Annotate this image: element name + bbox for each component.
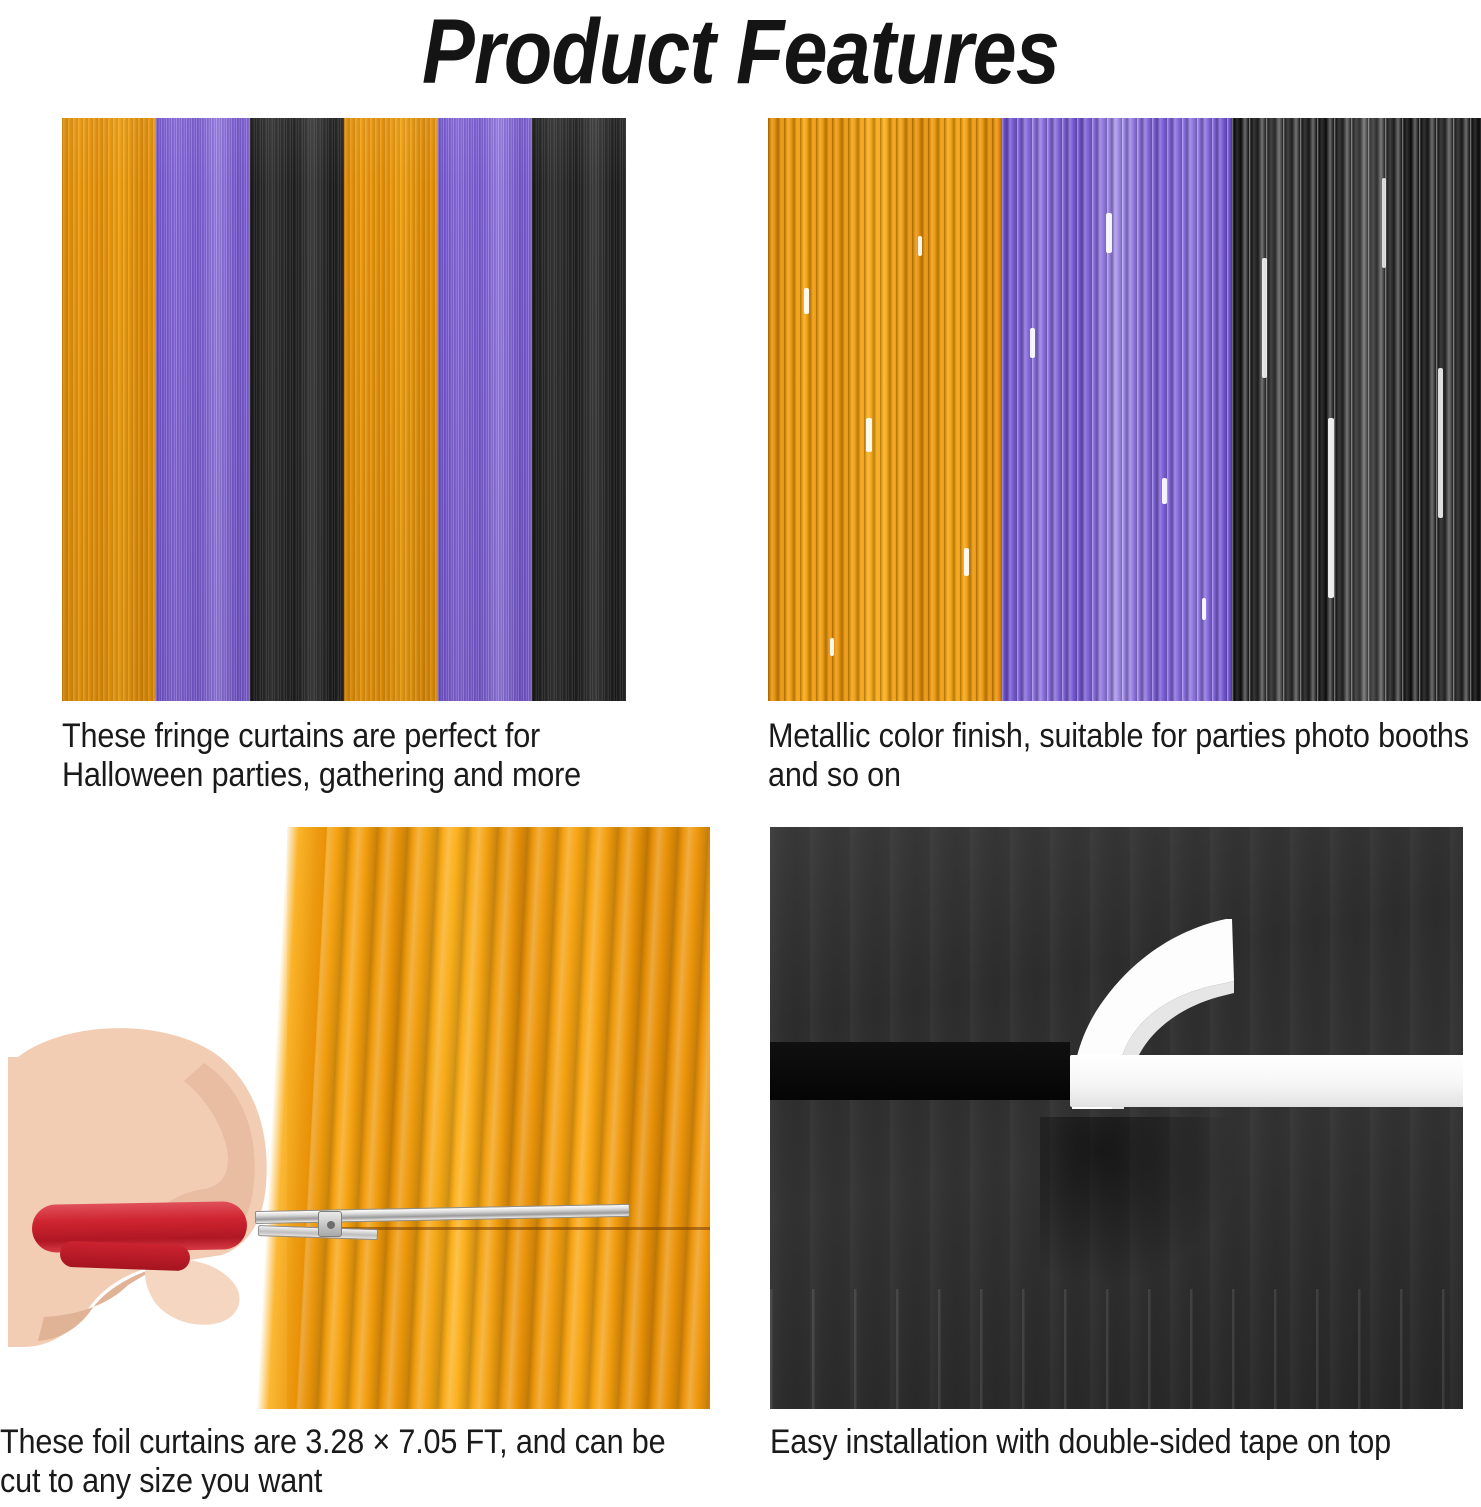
- highlight-spot: [804, 288, 809, 314]
- curtain-header-band: [770, 1042, 1070, 1100]
- feature-panel-fringe-curtains-set: These fringe curtains are perfect for Ha…: [62, 118, 626, 795]
- feature-caption-double-sided-tape: Easy installation with double-sided tape…: [770, 1423, 1481, 1462]
- double-sided-tape-strip: [1070, 1055, 1463, 1107]
- feature-row-bottom: These foil curtains are 3.28 × 7.05 FT, …: [0, 827, 1481, 1507]
- feature-caption-metallic-closeup: Metallic color finish, suitable for part…: [768, 717, 1479, 795]
- feature-caption-fringe-curtains-set: These fringe curtains are perfect for Ha…: [62, 717, 624, 795]
- highlight-spot: [1162, 478, 1167, 504]
- curtain-band-orange: [768, 118, 1002, 701]
- curtain-band-purple: [1002, 118, 1232, 701]
- feature-row-top: These fringe curtains are perfect for Ha…: [0, 118, 1481, 818]
- highlight-spot: [964, 548, 969, 576]
- highlight-spot: [1328, 418, 1334, 598]
- highlight-spot: [1030, 328, 1035, 358]
- highlight-spot: [1262, 258, 1267, 378]
- curtain-fringe-bottom: [770, 1289, 1463, 1409]
- product-photo-fringe-curtains-set: [62, 118, 626, 701]
- curtain-band-black: [1232, 118, 1481, 701]
- header: Product Features: [0, 0, 1481, 118]
- highlight-spot: [918, 236, 922, 256]
- feature-panel-cut-to-size: These foil curtains are 3.28 × 7.05 FT, …: [0, 827, 710, 1501]
- feature-panel-double-sided-tape: Easy installation with double-sided tape…: [770, 827, 1463, 1462]
- curtain-strip-purple-2: [438, 118, 532, 701]
- feature-caption-cut-to-size: These foil curtains are 3.28 × 7.05 FT, …: [0, 1423, 711, 1501]
- curtain-strip-orange-1: [62, 118, 156, 701]
- highlight-spot: [1438, 368, 1443, 518]
- highlight-spot: [830, 638, 834, 656]
- curtain-strip-purple-1: [156, 118, 250, 701]
- page-title: Product Features: [104, 0, 1378, 108]
- highlight-spot: [1106, 213, 1112, 253]
- curtain-strip-orange-2: [344, 118, 438, 701]
- curtain-strip-black-1: [250, 118, 344, 701]
- scissors-handle-red-lower: [60, 1241, 191, 1272]
- orange-foil-curtain: [287, 827, 710, 1409]
- feature-panel-metallic-closeup: Metallic color finish, suitable for part…: [768, 118, 1481, 795]
- highlight-spot: [1202, 598, 1206, 620]
- feature-grid: These fringe curtains are perfect for Ha…: [0, 118, 1481, 1507]
- highlight-spot: [1382, 178, 1386, 268]
- product-photo-cut-to-size: [0, 827, 710, 1409]
- tape-shadow: [1040, 1117, 1240, 1287]
- scissors-pivot: [318, 1211, 342, 1237]
- product-photo-metallic-closeup: [768, 118, 1481, 701]
- curtain-strip-black-2: [532, 118, 626, 701]
- product-photo-double-sided-tape: [770, 827, 1463, 1409]
- highlight-spot: [866, 418, 872, 452]
